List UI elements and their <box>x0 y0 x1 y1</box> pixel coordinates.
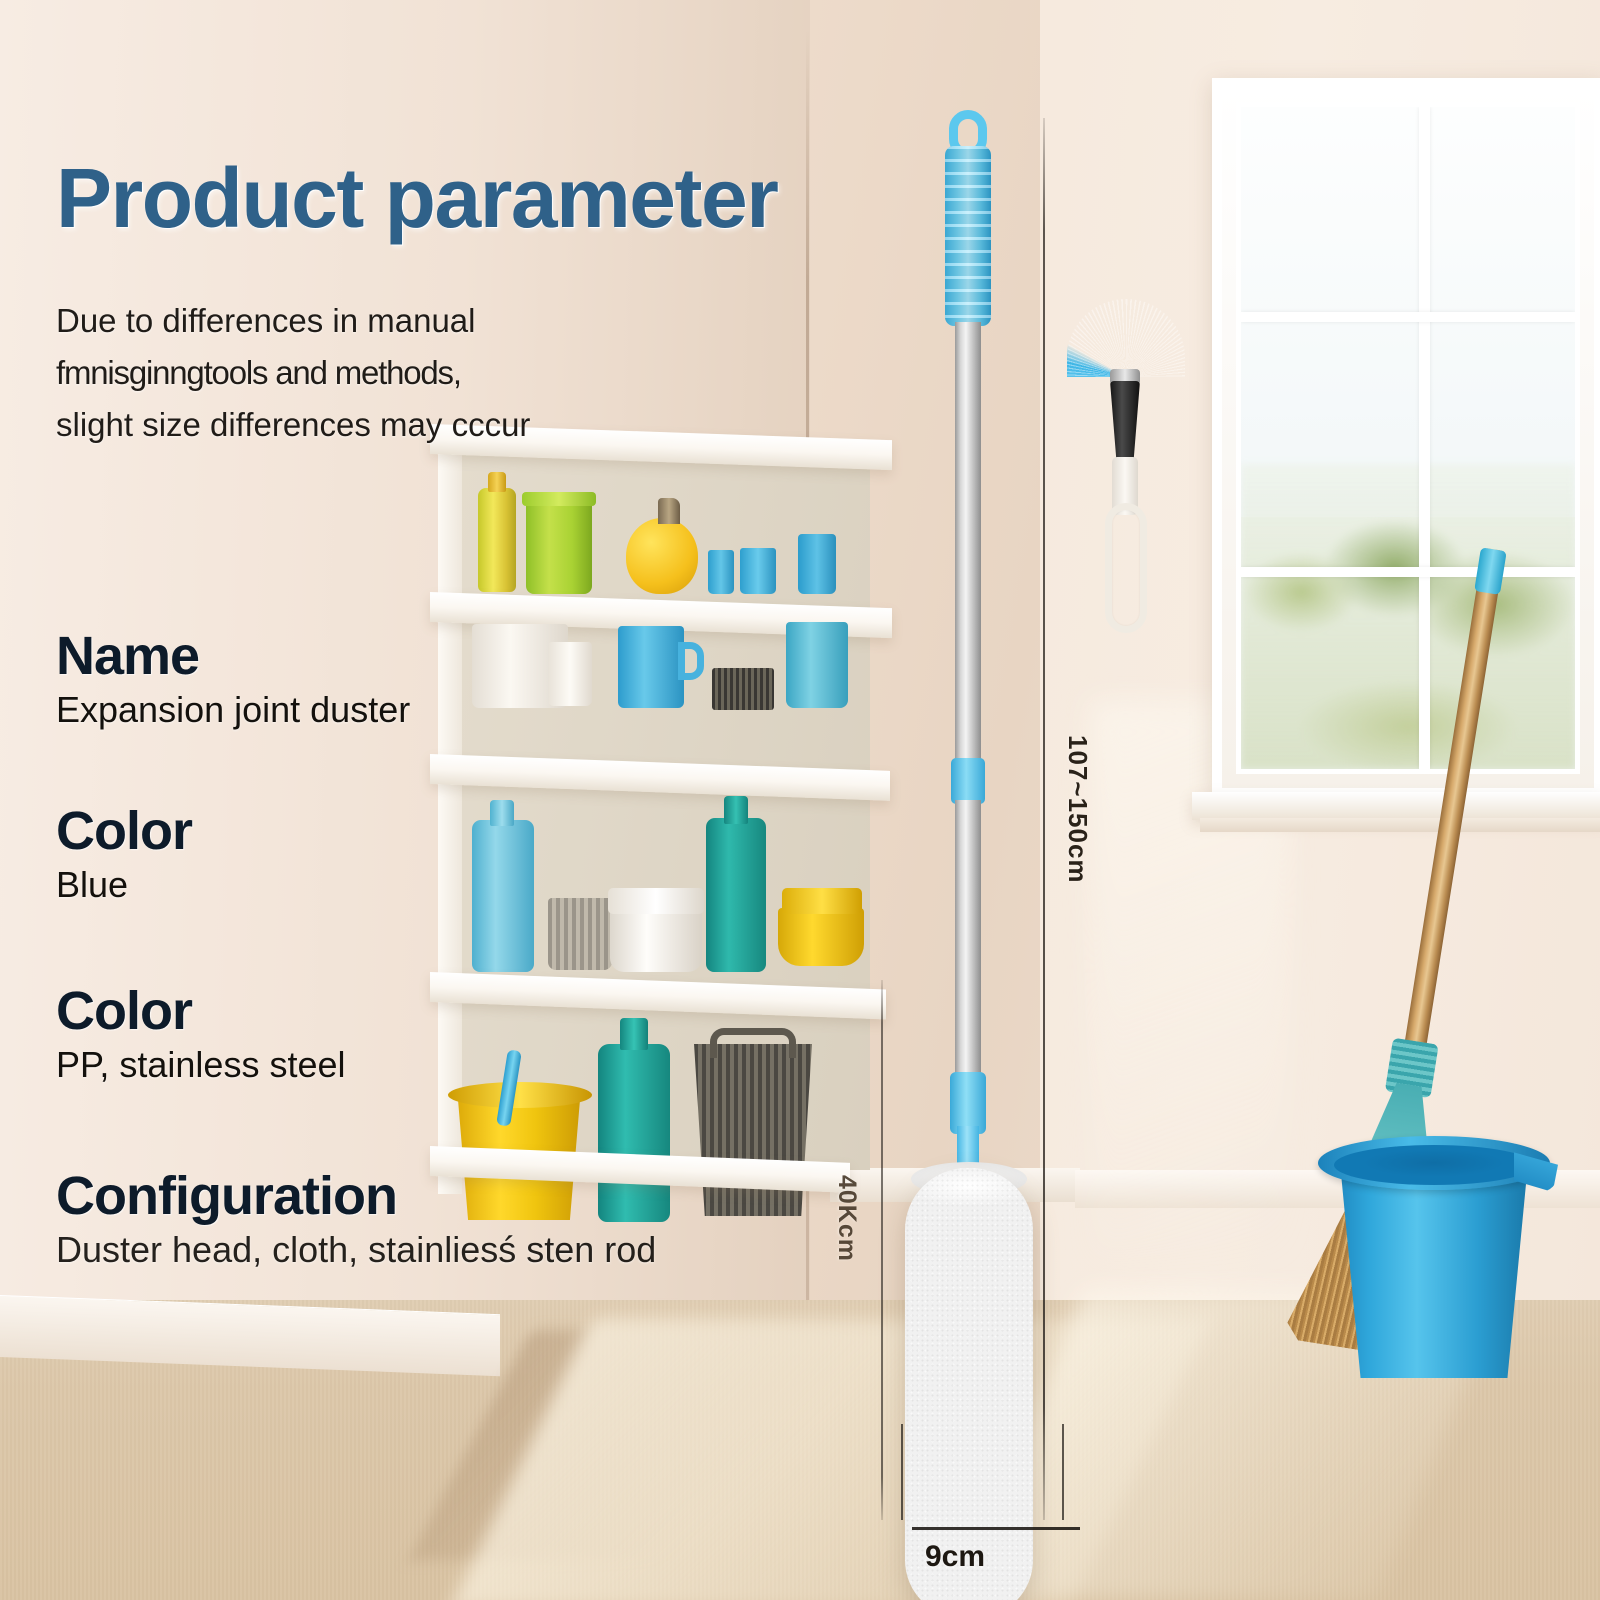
item-light-blue-bottle <box>472 820 534 972</box>
spec-row-name: Name Expansion joint duster <box>56 625 410 731</box>
dimension-line-height <box>1043 118 1045 1520</box>
item-blue-cup-1 <box>708 550 734 594</box>
duster-telescoping-collar <box>951 758 985 804</box>
bucket-interior <box>1334 1145 1534 1185</box>
spec-label-material: Color <box>56 980 346 1042</box>
spec-value-material: PP, stainless steel <box>56 1044 346 1086</box>
disclaimer-line-1: Due to differences in manual <box>56 295 530 347</box>
duster-steel-rod-upper <box>955 322 981 772</box>
dimension-label-width: 9cm <box>925 1540 985 1574</box>
duster-head-collar <box>950 1072 986 1134</box>
item-woven-basket-handle <box>710 1028 796 1058</box>
wall-fan-duster <box>1055 295 1195 695</box>
disclaimer-text: Due to differences in manual fmnisginngt… <box>56 295 530 451</box>
item-lime-bucket <box>526 498 592 594</box>
duster-steel-rod-lower <box>955 800 981 1090</box>
item-white-container-small <box>548 642 592 706</box>
broom-wooden-handle <box>1402 548 1505 1065</box>
spec-row-material: Color PP, stainless steel <box>56 980 346 1086</box>
spec-row-configuration: Configuration Duster head, cloth, stainl… <box>56 1165 656 1271</box>
item-gray-basket <box>548 898 612 970</box>
spec-value-configuration: Duster head, cloth, stainliesś sten rod <box>56 1229 656 1271</box>
disclaimer-line-3: slight size differences may cccur <box>56 399 530 451</box>
expansion-joint-duster-product <box>905 110 1035 1520</box>
item-dark-basket <box>712 668 774 710</box>
item-white-bowl-lid <box>608 888 704 914</box>
dimension-tick-right <box>1062 1424 1064 1520</box>
item-teal-bottle-large-neck <box>620 1018 648 1050</box>
page-title: Product parameter <box>56 150 777 247</box>
spec-value-name: Expansion joint duster <box>56 689 410 731</box>
duster-microfiber-head <box>905 1168 1033 1600</box>
item-blue-pitcher <box>618 626 684 708</box>
spec-value-color: Blue <box>56 864 192 906</box>
shelf-side-panel <box>438 434 462 1194</box>
disclaimer-line-2: fmnisginngtools and methods, <box>56 347 530 399</box>
item-teal-bottle <box>706 818 766 972</box>
dimension-label-head-length: 40Kcm <box>832 1175 861 1262</box>
item-yellow-bowls <box>778 908 864 966</box>
spec-label-configuration: Configuration <box>56 1165 656 1227</box>
dimension-line-head-length <box>881 980 883 1520</box>
item-light-blue-bottle-neck <box>490 800 514 826</box>
item-yellow-bucket-rim <box>448 1082 592 1108</box>
duster-grip <box>945 146 991 326</box>
item-lime-bucket-lid <box>522 492 596 506</box>
spec-label-color: Color <box>56 800 192 862</box>
blue-bucket <box>1318 1118 1558 1378</box>
spec-label-name: Name <box>56 625 410 687</box>
item-yellow-bottle-cap <box>488 472 506 492</box>
brush-hanging-loop <box>1105 503 1147 633</box>
item-yellow-sphere-spout <box>658 498 680 524</box>
item-yellow-bowl-upper <box>782 888 862 914</box>
brush-black-grip <box>1110 381 1140 463</box>
item-blue-cup-3 <box>798 534 836 594</box>
storage-shelf-unit <box>430 410 900 1200</box>
item-yellow-bottle <box>478 488 516 592</box>
item-teal-bottle-neck <box>724 796 748 824</box>
item-blue-cup-2 <box>740 548 776 594</box>
dimension-tick-left <box>901 1424 903 1520</box>
dimension-line-width <box>912 1527 1080 1530</box>
item-blue-pitcher-handle <box>678 642 704 680</box>
window-mullion-horizontal-1 <box>1241 312 1575 322</box>
spec-row-color: Color Blue <box>56 800 192 906</box>
dimension-label-height: 107~150cm <box>1062 735 1093 884</box>
item-white-bowls <box>610 908 702 972</box>
item-yellow-sphere <box>626 518 698 594</box>
broom-handle-cap <box>1474 547 1507 595</box>
item-teal-bucket <box>786 622 848 708</box>
